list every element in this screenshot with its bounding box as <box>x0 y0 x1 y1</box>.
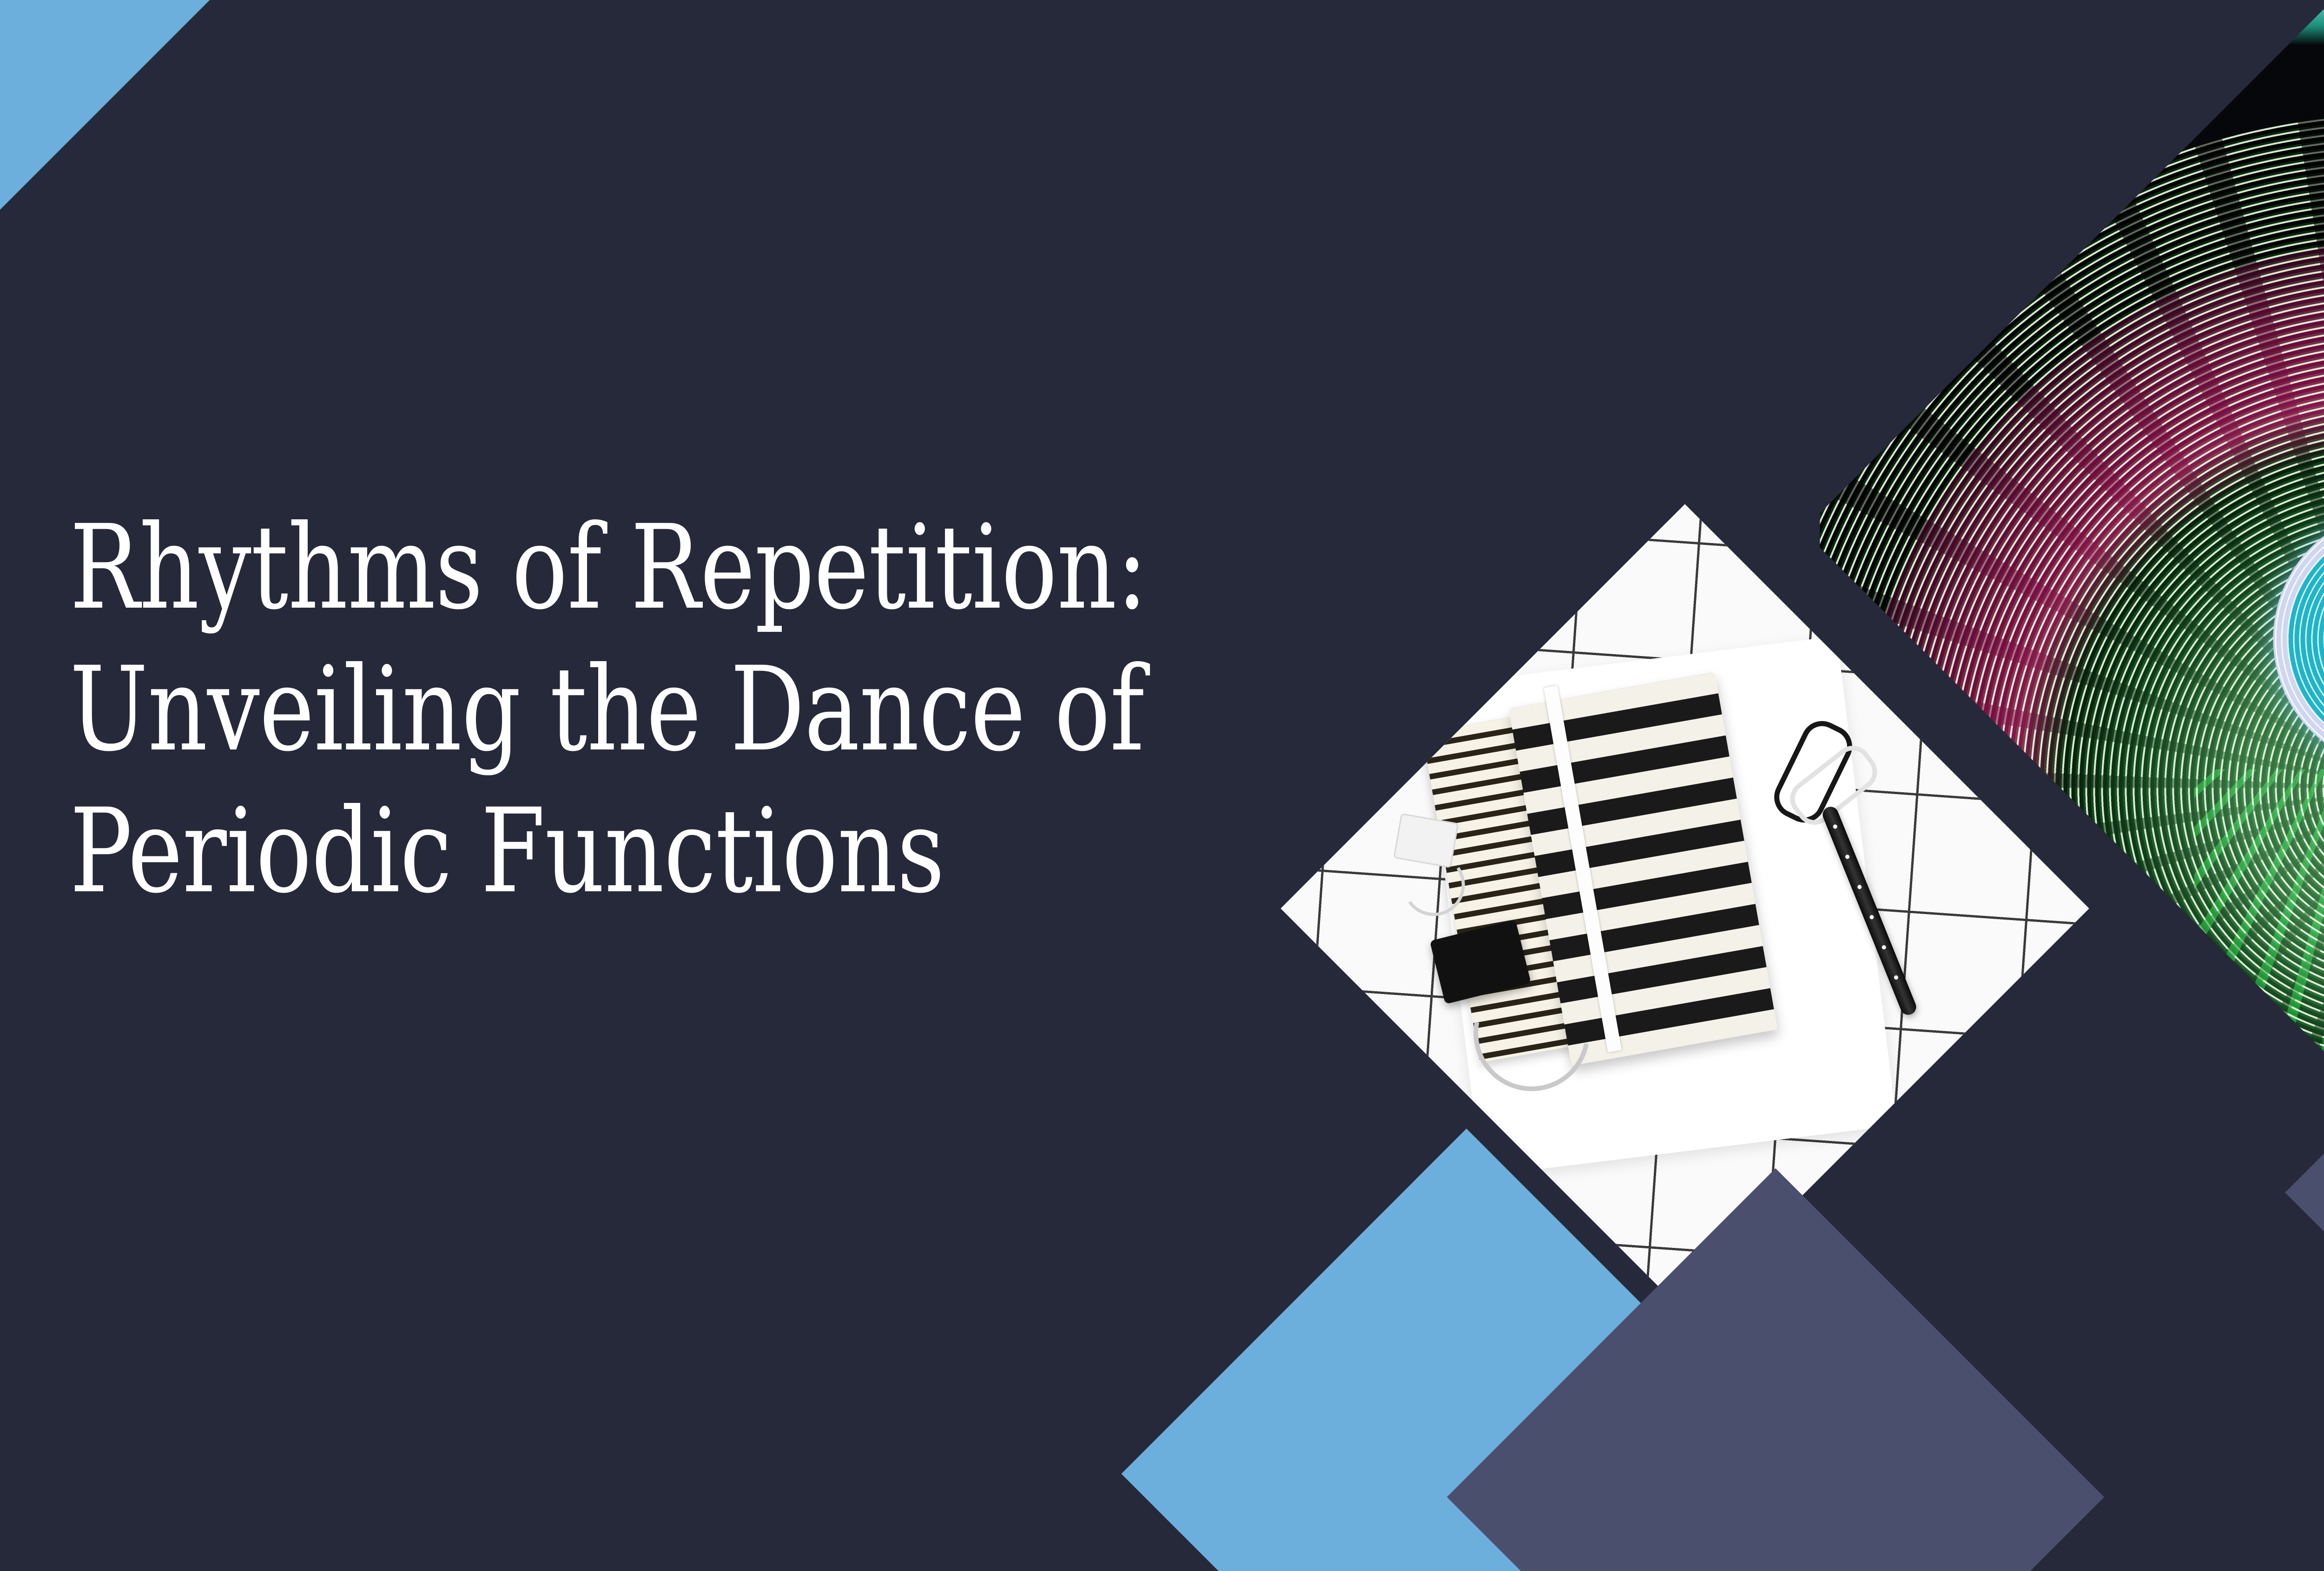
ride-support-legs <box>2194 769 2324 1115</box>
slide-title: Rhythms of Repetition: Unveiling the Dan… <box>70 497 1167 922</box>
top-color-band <box>1820 0 2324 46</box>
top-left-blue-diamond <box>0 0 275 270</box>
slide-canvas: Rhythms of Repetition: Unveiling the Dan… <box>0 0 2324 1571</box>
